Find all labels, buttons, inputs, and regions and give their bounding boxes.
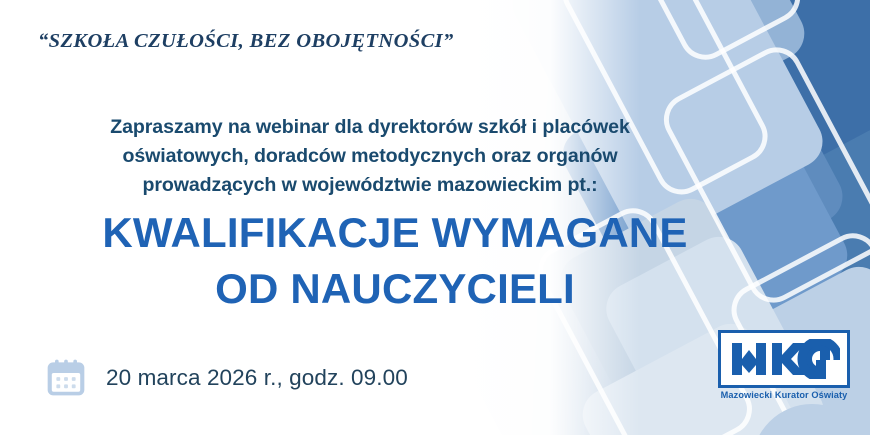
main-title-line-2: OD NAUCZYCIELI — [0, 261, 790, 317]
subtitle-line-1: Zapraszamy na webinar dla dyrektorów szk… — [0, 113, 740, 142]
main-title-line-1: KWALIFIKACJE WYMAGANE — [0, 205, 790, 261]
mko-logo-caption: Mazowiecki Kurator Oświaty — [718, 390, 850, 400]
mko-mark-icon — [728, 339, 840, 379]
webinar-banner: “SZKOŁA CZUŁOŚCI, BEZ OBOJĘTNOŚCI” Zapra… — [0, 0, 870, 435]
main-title: KWALIFIKACJE WYMAGANE OD NAUCZYCIELI — [0, 205, 790, 317]
banner-content: “SZKOŁA CZUŁOŚCI, BEZ OBOJĘTNOŚCI” Zapra… — [0, 0, 870, 435]
mko-logo-box — [718, 330, 850, 388]
subtitle-line-3: prowadzących w województwie mazowieckim … — [0, 171, 740, 200]
calendar-icon — [44, 356, 88, 400]
subtitle-line-2: oświatowych, doradców metodycznych oraz … — [0, 142, 740, 171]
date-row: 20 marca 2026 r., godz. 09.00 — [44, 356, 408, 400]
mko-logo: Mazowiecki Kurator Oświaty — [718, 330, 858, 400]
slogan-text: “SZKOŁA CZUŁOŚCI, BEZ OBOJĘTNOŚCI” — [38, 30, 454, 53]
subtitle-block: Zapraszamy na webinar dla dyrektorów szk… — [0, 113, 740, 199]
date-text: 20 marca 2026 r., godz. 09.00 — [106, 365, 408, 391]
